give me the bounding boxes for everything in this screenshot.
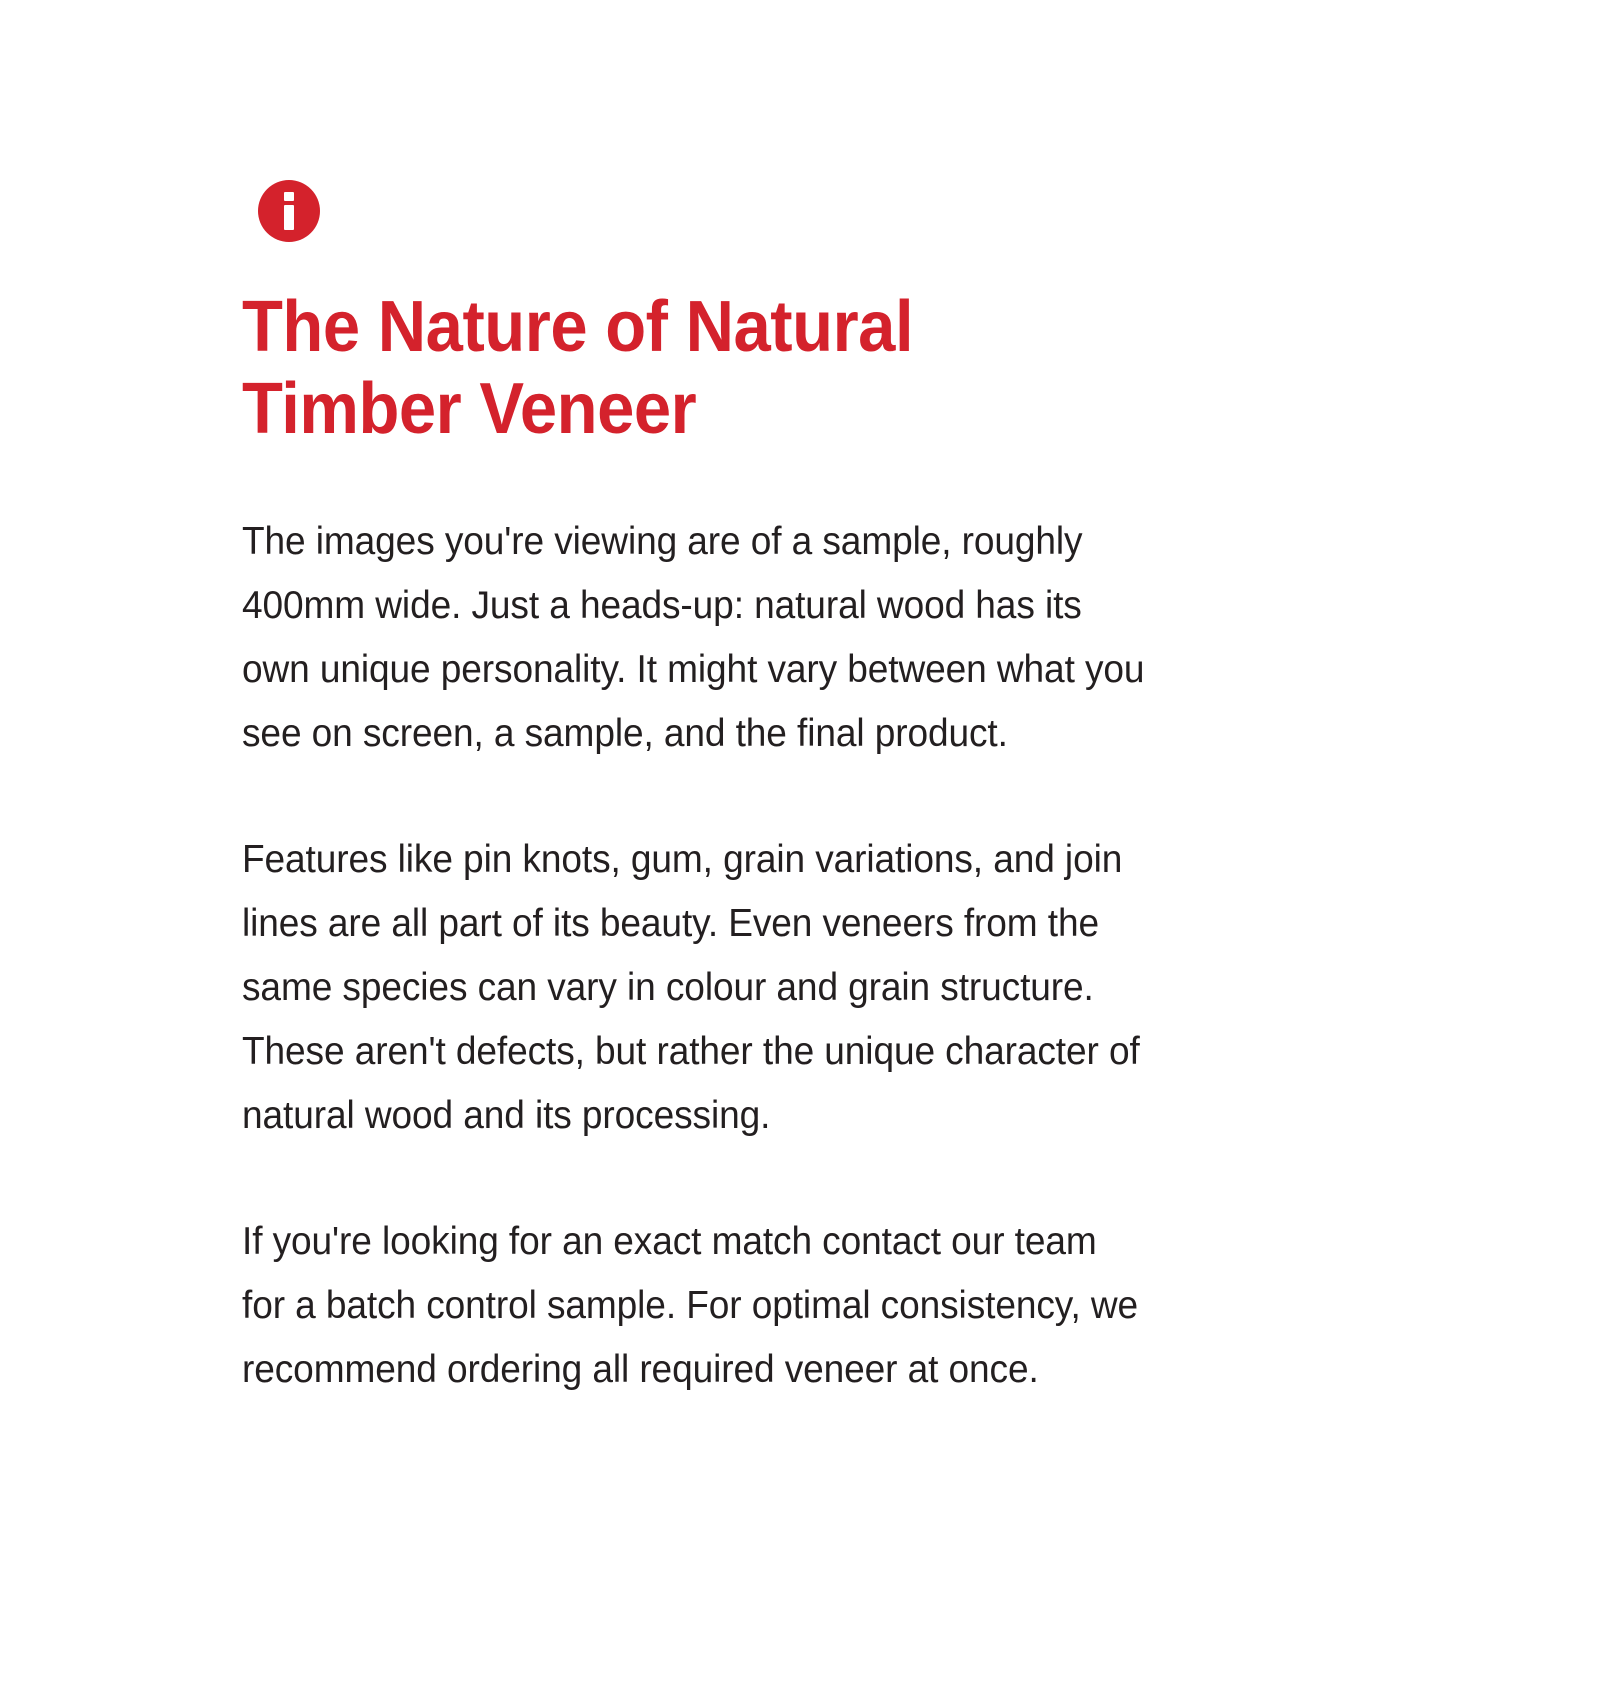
- notice-paragraph-2: Features like pin knots, gum, grain vari…: [242, 828, 1306, 1148]
- info-notice-panel: The Nature of Natural Timber Veneer The …: [0, 0, 1620, 1686]
- notice-body: The images you're viewing are of a sampl…: [242, 510, 1306, 1402]
- notice-paragraph-1: The images you're viewing are of a sampl…: [242, 510, 1306, 766]
- notice-paragraph-3: If you're looking for an exact match con…: [242, 1210, 1306, 1402]
- info-icon-glyph: [272, 192, 306, 230]
- info-icon: [258, 180, 320, 242]
- page-title: The Nature of Natural Timber Veneer: [242, 286, 1300, 450]
